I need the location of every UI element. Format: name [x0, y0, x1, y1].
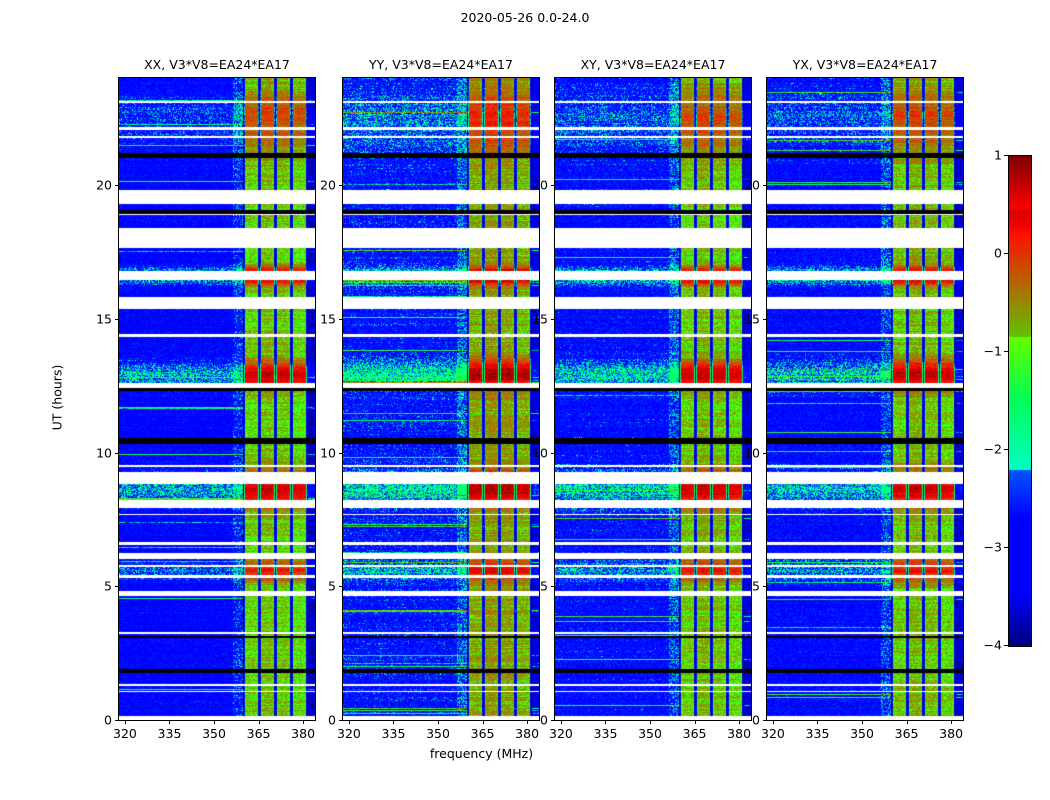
ytick-mark	[763, 185, 767, 186]
ytick-label-xy-1: 5	[540, 579, 548, 594]
ytick-mark	[551, 720, 555, 721]
ytick-mark	[115, 586, 119, 587]
colorbar-tick-mark	[1004, 449, 1008, 450]
waterfall-xy[interactable]	[554, 77, 752, 721]
ytick-label-xx-1: 5	[104, 579, 112, 594]
ytick-label-xx-2: 10	[96, 445, 112, 460]
xtick-label-xy-4: 380	[727, 726, 751, 741]
ytick-mark	[339, 453, 343, 454]
ytick-label-yx-0: 0	[752, 713, 760, 728]
colorbar-tick-mark	[1004, 155, 1008, 156]
xtick-mark	[125, 720, 126, 724]
xtick-mark	[817, 720, 818, 724]
panel-yx: YX, V3*V8=EA24*EA17051015203203353503653…	[767, 78, 963, 720]
xtick-label-yx-2: 350	[850, 726, 874, 741]
xtick-mark	[650, 720, 651, 724]
panel-xx: XX, V3*V8=EA24*EA17051015203203353503653…	[119, 78, 315, 720]
waterfall-yy[interactable]	[342, 77, 540, 721]
x-axis-label: frequency (MHz)	[0, 746, 963, 761]
xtick-mark	[561, 720, 562, 724]
xtick-mark	[259, 720, 260, 724]
xtick-label-yx-1: 335	[806, 726, 830, 741]
ytick-mark	[551, 586, 555, 587]
ytick-mark	[115, 720, 119, 721]
xtick-label-xy-1: 335	[594, 726, 618, 741]
ytick-mark	[339, 319, 343, 320]
colorbar-tick-label-4: 0	[994, 246, 1002, 261]
xtick-label-xy-2: 350	[638, 726, 662, 741]
panel-xy: XY, V3*V8=EA24*EA17051015203203353503653…	[555, 78, 751, 720]
ytick-mark	[115, 185, 119, 186]
xtick-label-xx-2: 350	[202, 726, 226, 741]
colorbar-tick-mark	[1004, 645, 1008, 646]
xtick-mark	[303, 720, 304, 724]
ytick-label-yy-2: 10	[320, 445, 336, 460]
waterfall-yx[interactable]	[766, 77, 964, 721]
ytick-mark	[763, 319, 767, 320]
colorbar-tick-label-5: 1	[994, 148, 1002, 163]
xtick-label-yx-3: 365	[895, 726, 919, 741]
ytick-label-yx-2: 10	[744, 445, 760, 460]
colorbar[interactable]: −4−3−2−101 log10 amplitude	[1008, 155, 1030, 645]
ytick-mark	[339, 185, 343, 186]
ytick-mark	[551, 185, 555, 186]
ytick-mark	[551, 319, 555, 320]
ytick-label-yy-0: 0	[328, 713, 336, 728]
xtick-mark	[739, 720, 740, 724]
xtick-label-yx-4: 380	[939, 726, 963, 741]
xtick-mark	[951, 720, 952, 724]
colorbar-tick-label-1: −3	[984, 540, 1002, 555]
colorbar-tick-label-2: −2	[984, 442, 1002, 457]
xtick-mark	[773, 720, 774, 724]
xtick-label-yx-0: 320	[761, 726, 785, 741]
colorbar-tick-mark	[1004, 547, 1008, 548]
ytick-mark	[551, 453, 555, 454]
ytick-label-yx-1: 5	[752, 579, 760, 594]
ytick-mark	[763, 586, 767, 587]
xtick-mark	[605, 720, 606, 724]
waterfall-xx[interactable]	[118, 77, 316, 721]
colorbar-gradient	[1008, 155, 1032, 647]
ytick-label-xx-0: 0	[104, 713, 112, 728]
ytick-mark	[115, 453, 119, 454]
xtick-mark	[349, 720, 350, 724]
xtick-label-xy-0: 320	[549, 726, 573, 741]
xtick-mark	[527, 720, 528, 724]
ytick-label-xx-3: 15	[96, 311, 112, 326]
panel-title-yx: YX, V3*V8=EA24*EA17	[793, 57, 938, 72]
ytick-label-xy-0: 0	[540, 713, 548, 728]
xtick-label-xx-3: 365	[247, 726, 271, 741]
xtick-label-xy-3: 365	[683, 726, 707, 741]
ytick-label-yy-3: 15	[320, 311, 336, 326]
xtick-label-xx-0: 320	[113, 726, 137, 741]
panel-yy: YY, V3*V8=EA24*EA17051015203203353503653…	[343, 78, 539, 720]
xtick-label-yy-4: 380	[515, 726, 539, 741]
y-axis-label: UT (hours)	[50, 77, 65, 719]
colorbar-tick-mark	[1004, 351, 1008, 352]
ytick-label-yy-1: 5	[328, 579, 336, 594]
panel-title-xx: XX, V3*V8=EA24*EA17	[144, 57, 290, 72]
figure-canvas: 2020-05-26 0.0-24.0 XX, V3*V8=EA24*EA170…	[0, 0, 1050, 800]
ytick-label-xy-2: 10	[532, 445, 548, 460]
ytick-mark	[339, 586, 343, 587]
ytick-label-xy-4: 20	[532, 178, 548, 193]
xtick-label-xx-1: 335	[158, 726, 182, 741]
xtick-label-yy-2: 350	[426, 726, 450, 741]
ytick-label-yy-4: 20	[320, 178, 336, 193]
xtick-label-xx-4: 380	[291, 726, 315, 741]
ytick-label-yx-4: 20	[744, 178, 760, 193]
ytick-mark	[115, 319, 119, 320]
ytick-mark	[763, 453, 767, 454]
ytick-mark	[763, 720, 767, 721]
xtick-label-yy-1: 335	[382, 726, 406, 741]
xtick-mark	[169, 720, 170, 724]
colorbar-tick-label-3: −1	[984, 344, 1002, 359]
panel-title-xy: XY, V3*V8=EA24*EA17	[581, 57, 726, 72]
xtick-label-yy-3: 365	[471, 726, 495, 741]
xtick-mark	[393, 720, 394, 724]
colorbar-tick-mark	[1004, 253, 1008, 254]
ytick-label-xx-4: 20	[96, 178, 112, 193]
colorbar-tick-label-0: −4	[984, 638, 1002, 653]
figure-suptitle: 2020-05-26 0.0-24.0	[0, 10, 1050, 25]
ytick-mark	[339, 720, 343, 721]
xtick-mark	[214, 720, 215, 724]
xtick-mark	[438, 720, 439, 724]
panel-title-yy: YY, V3*V8=EA24*EA17	[369, 57, 513, 72]
xtick-mark	[483, 720, 484, 724]
xtick-mark	[862, 720, 863, 724]
xtick-mark	[695, 720, 696, 724]
ytick-label-xy-3: 15	[532, 311, 548, 326]
xtick-label-yy-0: 320	[337, 726, 361, 741]
xtick-mark	[907, 720, 908, 724]
ytick-label-yx-3: 15	[744, 311, 760, 326]
